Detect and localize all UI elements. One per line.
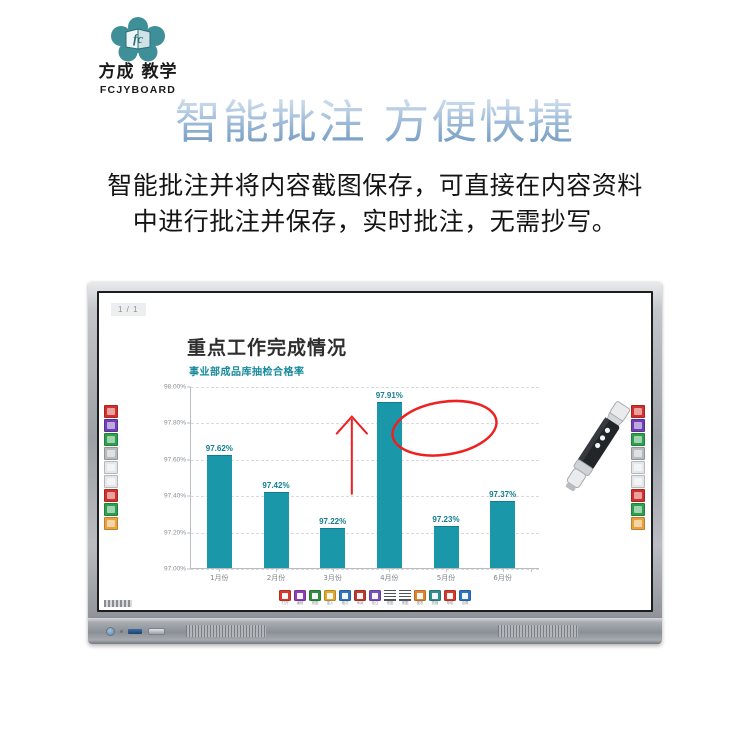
promo-page: fc 方成 教学 FCJYBOARD 智能批注 方便快捷 智能批注并将内容截图保… bbox=[0, 0, 750, 736]
edit-icon[interactable]: 编辑 bbox=[294, 590, 306, 605]
y-tick-label: 97.20% bbox=[164, 529, 186, 536]
page-description: 智能批注并将内容截图保存，可直接在内容资料 中进行批注并保存，实时批注，无需抄写… bbox=[0, 168, 750, 241]
tool-label: 审阅 bbox=[354, 602, 366, 605]
gridline bbox=[191, 387, 539, 388]
bar-value-label: 97.62% bbox=[206, 444, 233, 453]
x-tick bbox=[333, 569, 334, 572]
chart-icon[interactable]: 图表 bbox=[414, 590, 426, 605]
save-screenshot-icon[interactable] bbox=[631, 503, 645, 516]
more-tools-icon[interactable] bbox=[104, 517, 118, 530]
review-icon[interactable]: 审阅 bbox=[354, 590, 366, 605]
view-icon[interactable]: 视图 bbox=[309, 590, 321, 605]
description-line-1: 智能批注并将内容截图保存，可直接在内容资料 bbox=[0, 168, 750, 204]
device-chin bbox=[88, 618, 662, 644]
delete-icon[interactable] bbox=[104, 489, 118, 502]
interactive-whiteboard: 1 / 1 重点工作完成情况 事业部成品库抽检合格率 98.00%97.80%9… bbox=[88, 282, 662, 646]
more-tools-icon[interactable] bbox=[631, 517, 645, 530]
gridline bbox=[191, 423, 539, 424]
highlighter-tool-icon[interactable] bbox=[104, 419, 118, 432]
x-tick-label: 3月份 bbox=[323, 573, 341, 583]
device-bezel: 1 / 1 重点工作完成情况 事业部成品库抽检合格率 98.00%97.80%9… bbox=[88, 282, 662, 620]
gridline bbox=[191, 533, 539, 534]
page-indicator: 1 / 1 bbox=[111, 303, 146, 316]
x-tick bbox=[446, 569, 447, 572]
bar-value-label: 97.91% bbox=[376, 391, 403, 400]
x-tick-label: 4月份 bbox=[380, 573, 398, 583]
bar-value-label: 97.22% bbox=[319, 517, 346, 526]
y-tick-label: 98.00% bbox=[164, 384, 186, 391]
edit-icon-glyph bbox=[294, 590, 306, 601]
y-tick bbox=[187, 496, 191, 497]
review-icon-glyph bbox=[354, 590, 366, 601]
x-tick bbox=[276, 569, 277, 572]
y-tick bbox=[187, 423, 191, 424]
y-tick bbox=[187, 459, 191, 460]
brand-logo: fc 方成 教学 FCJYBOARD bbox=[78, 16, 198, 96]
bar: 97.23%5月份 bbox=[434, 526, 459, 568]
save-screenshot-icon[interactable] bbox=[104, 503, 118, 516]
annotate-icon[interactable]: 批注 bbox=[369, 590, 381, 605]
insert-icon-glyph bbox=[324, 590, 336, 601]
speaker-grille-icon bbox=[186, 625, 266, 637]
paragraph-icon[interactable]: 视图 bbox=[384, 590, 396, 605]
open-file-icon-glyph bbox=[279, 590, 291, 601]
settings-icon-glyph bbox=[459, 590, 471, 601]
speaker-grille-icon bbox=[498, 625, 578, 637]
align-icon-glyph bbox=[399, 590, 411, 601]
tool-label: 设置 bbox=[459, 602, 471, 605]
chart-title: 重点工作完成情况 bbox=[187, 333, 347, 360]
bar-value-label: 97.23% bbox=[432, 515, 459, 524]
bar: 97.42%2月份 bbox=[264, 492, 289, 568]
y-tick bbox=[187, 387, 191, 388]
tool-label: 视图 bbox=[384, 602, 396, 605]
flower-book-logo-icon: fc bbox=[109, 16, 167, 62]
pen-tool-icon[interactable] bbox=[104, 405, 118, 418]
left-tool-palette[interactable] bbox=[104, 405, 119, 530]
x-tick-label: 6月份 bbox=[493, 573, 511, 583]
align-icon[interactable]: 视图 bbox=[399, 590, 411, 605]
chart-icon-glyph bbox=[414, 590, 426, 601]
bottom-tool-ribbon[interactable]: 打开编辑视图插入格式审阅批注视图视图图表表格帮助设置 bbox=[279, 590, 471, 605]
brand-name-en: FCJYBOARD bbox=[78, 84, 198, 96]
description-line-2: 中进行批注并保存，实时批注，无需抄写。 bbox=[0, 204, 750, 240]
bar: 97.91%4月份 bbox=[377, 402, 402, 568]
insert-icon[interactable]: 插入 bbox=[324, 590, 336, 605]
x-tick-label: 5月份 bbox=[437, 573, 455, 583]
page-title: 智能批注 方便快捷 bbox=[0, 96, 750, 149]
tool-label: 插入 bbox=[324, 602, 336, 605]
usb-port-icon bbox=[148, 628, 165, 635]
y-tick-label: 97.80% bbox=[164, 420, 186, 427]
tool-label: 图表 bbox=[414, 602, 426, 605]
y-tick-label: 97.00% bbox=[164, 566, 186, 573]
bar: 97.62%1月份 bbox=[207, 455, 232, 568]
gridline bbox=[191, 569, 539, 570]
format-icon[interactable]: 格式 bbox=[339, 590, 351, 605]
bar-value-label: 97.37% bbox=[489, 490, 516, 499]
eraser-tool-icon[interactable] bbox=[104, 447, 118, 460]
stylus-pen-icon bbox=[541, 393, 651, 503]
undo-icon[interactable] bbox=[104, 461, 118, 474]
gridline bbox=[191, 460, 539, 461]
tool-label: 打开 bbox=[279, 602, 291, 605]
bar: 97.37%6月份 bbox=[490, 501, 515, 568]
power-button-icon[interactable] bbox=[106, 627, 115, 636]
svg-text:fc: fc bbox=[133, 31, 143, 46]
bar-value-label: 97.42% bbox=[262, 481, 289, 490]
x-tick bbox=[503, 569, 504, 572]
y-tick bbox=[187, 532, 191, 533]
annotate-icon-glyph bbox=[369, 590, 381, 601]
screen-status-badge bbox=[104, 600, 132, 607]
y-tick bbox=[187, 569, 191, 570]
y-axis bbox=[190, 387, 191, 569]
brand-name-cn: 方成 教学 bbox=[78, 63, 198, 82]
help-icon-glyph bbox=[444, 590, 456, 601]
y-tick-label: 97.60% bbox=[164, 456, 186, 463]
tool-label: 格式 bbox=[339, 602, 351, 605]
bar-chart-plot: 98.00%97.80%97.60%97.40%97.20%97.00%97.6… bbox=[191, 387, 531, 569]
gridline bbox=[191, 496, 539, 497]
tool-label: 编辑 bbox=[294, 602, 306, 605]
open-file-icon[interactable]: 打开 bbox=[279, 590, 291, 605]
tool-label: 批注 bbox=[369, 602, 381, 605]
bar: 97.22%3月份 bbox=[320, 528, 345, 568]
tool-label: 视图 bbox=[399, 602, 411, 605]
tool-label: 视图 bbox=[309, 602, 321, 605]
y-tick-label: 97.40% bbox=[164, 493, 186, 500]
tool-label: 帮助 bbox=[444, 602, 456, 605]
table-icon-glyph bbox=[429, 590, 441, 601]
screen-frame: 1 / 1 重点工作完成情况 事业部成品库抽检合格率 98.00%97.80%9… bbox=[97, 291, 653, 612]
table-icon[interactable]: 表格 bbox=[429, 590, 441, 605]
redo-icon[interactable] bbox=[104, 475, 118, 488]
x-tick bbox=[219, 569, 220, 572]
indicator-led-icon bbox=[120, 630, 123, 633]
x-tick-label: 2月份 bbox=[267, 573, 285, 583]
tool-label: 表格 bbox=[429, 602, 441, 605]
chart-subtitle: 事业部成品库抽检合格率 bbox=[189, 363, 305, 378]
paragraph-icon-glyph bbox=[384, 590, 396, 601]
help-icon[interactable]: 帮助 bbox=[444, 590, 456, 605]
x-tick bbox=[389, 569, 390, 572]
hdmi-port-icon bbox=[128, 629, 142, 634]
format-icon-glyph bbox=[339, 590, 351, 601]
color-palette-icon[interactable] bbox=[104, 433, 118, 446]
settings-icon[interactable]: 设置 bbox=[459, 590, 471, 605]
view-icon-glyph bbox=[309, 590, 321, 601]
x-tick-label: 1月份 bbox=[210, 573, 228, 583]
whiteboard-screen[interactable]: 1 / 1 重点工作完成情况 事业部成品库抽检合格率 98.00%97.80%9… bbox=[99, 293, 651, 610]
x-tick bbox=[531, 569, 532, 572]
